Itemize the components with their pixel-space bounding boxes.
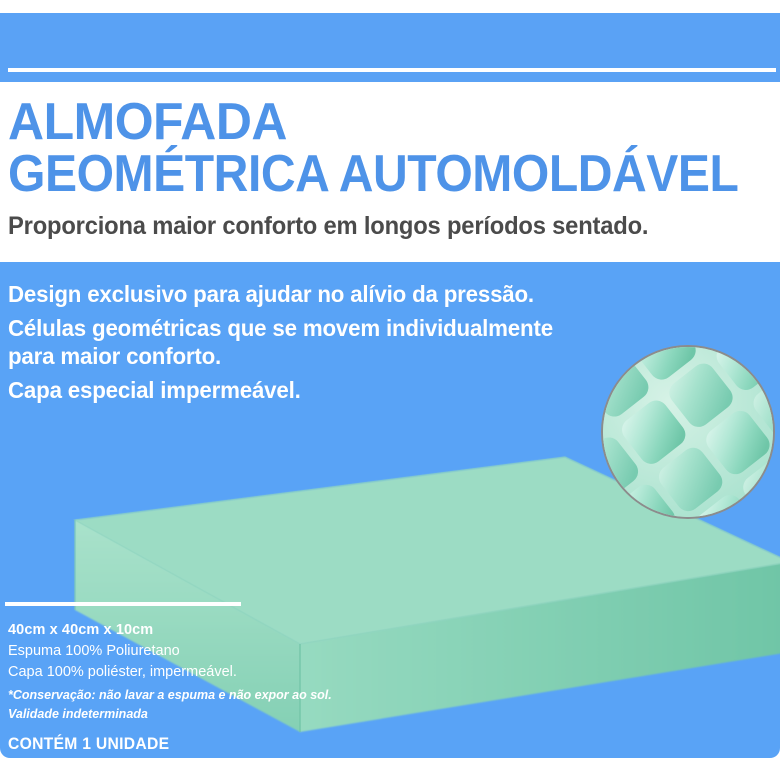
magnifier-circle — [601, 345, 775, 519]
conservation-line-1: *Conservação: não lavar a espuma e não e… — [8, 686, 408, 705]
spec-material-foam: Espuma 100% Poliuretano — [8, 641, 338, 662]
product-title-line-1: ALMOFADA — [8, 96, 287, 148]
main-panel: Design exclusivo para ajudar no alívio d… — [0, 262, 780, 758]
benefit-item-1: Design exclusivo para ajudar no alívio d… — [8, 280, 590, 308]
header-band — [0, 13, 780, 82]
quantity-label: CONTÉM 1 UNIDADE — [8, 735, 169, 754]
spec-divider — [5, 602, 241, 606]
product-subtitle: Proporciona maior conforto em longos per… — [8, 212, 648, 241]
specifications: 40cm x 40cm x 10cm Espuma 100% Poliureta… — [8, 620, 338, 683]
benefits-list: Design exclusivo para ajudar no alívio d… — [8, 280, 608, 410]
benefit-item-2: Células geométricas que se movem individ… — [8, 314, 590, 370]
product-advertisement-page: ALMOFADA GEOMÉTRICA AUTOMOLDÁVEL Proporc… — [0, 0, 780, 780]
title-area: ALMOFADA GEOMÉTRICA AUTOMOLDÁVEL Proporc… — [0, 82, 780, 262]
spec-dimensions: 40cm x 40cm x 10cm — [8, 620, 338, 641]
benefit-item-3: Capa especial impermeável. — [8, 376, 590, 404]
conservation-notes: *Conservação: não lavar a espuma e não e… — [8, 686, 408, 724]
spec-material-cover: Capa 100% poliéster, impermeável. — [8, 662, 338, 683]
header-rule — [8, 68, 776, 72]
conservation-line-2: Validade indeterminada — [8, 705, 408, 724]
foam-cells — [75, 519, 79, 521]
product-title-line-2: GEOMÉTRICA AUTOMOLDÁVEL — [8, 148, 738, 200]
magnified-foam-cells — [601, 345, 775, 519]
